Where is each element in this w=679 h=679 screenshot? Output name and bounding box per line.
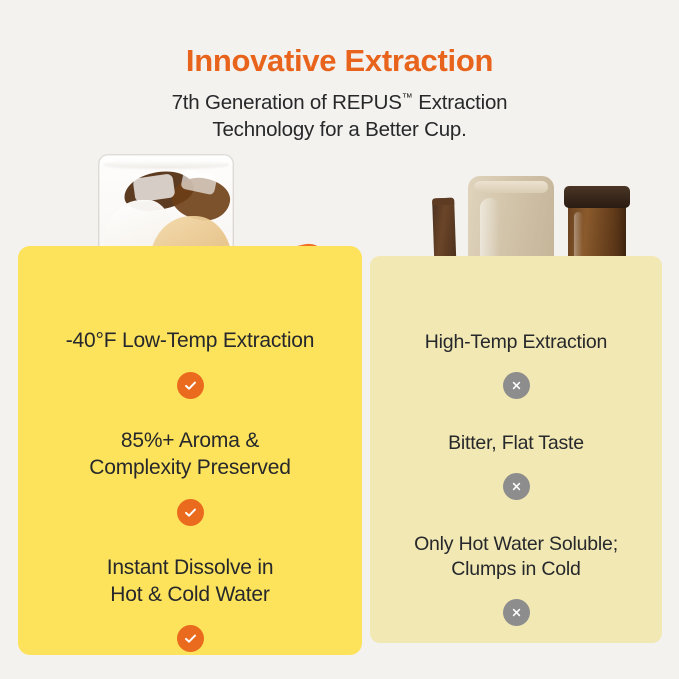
trademark-symbol: ™ xyxy=(402,92,413,104)
feature-label: Bitter, Flat Taste xyxy=(448,431,584,456)
feature-label: 85%+ Aroma & Complexity Preserved xyxy=(89,428,290,482)
innovative-feature-list: -40°F Low-Temp Extraction 85%+ Aroma & C… xyxy=(18,328,362,652)
feature-label: -40°F Low-Temp Extraction xyxy=(66,328,315,355)
subtitle-line1-a: 7th Generation of REPUS xyxy=(172,91,402,114)
jar-lid-icon xyxy=(564,186,630,208)
feature-label: High-Temp Extraction xyxy=(425,330,607,355)
check-icon xyxy=(177,372,204,399)
check-icon xyxy=(177,499,204,526)
cross-icon xyxy=(503,372,530,399)
comparison-infographic: Innovative Extraction 7th Generation of … xyxy=(0,0,679,679)
conventional-feature-list: High-Temp Extraction Bitter, Flat Taste … xyxy=(370,330,662,626)
page-subtitle: 7th Generation of REPUS™ ExtractionTechn… xyxy=(0,78,679,143)
feature-item: High-Temp Extraction xyxy=(370,330,662,399)
cross-icon xyxy=(503,473,530,500)
feature-item: Bitter, Flat Taste xyxy=(370,431,662,500)
cross-icon xyxy=(503,599,530,626)
feature-label: Instant Dissolve in Hot & Cold Water xyxy=(107,555,274,609)
feature-item: Only Hot Water Soluble; Clumps in Cold xyxy=(370,532,662,626)
feature-item: -40°F Low-Temp Extraction xyxy=(18,328,362,399)
feature-label: Only Hot Water Soluble; Clumps in Cold xyxy=(414,532,618,582)
header: Innovative Extraction 7th Generation of … xyxy=(0,0,679,143)
page-title: Innovative Extraction xyxy=(0,0,679,78)
feature-item: 85%+ Aroma & Complexity Preserved xyxy=(18,428,362,526)
check-icon xyxy=(177,625,204,652)
subtitle-line2: Technology for a Better Cup. xyxy=(212,118,466,141)
feature-item: Instant Dissolve in Hot & Cold Water xyxy=(18,555,362,653)
subtitle-line1-b: Extraction xyxy=(413,91,508,114)
